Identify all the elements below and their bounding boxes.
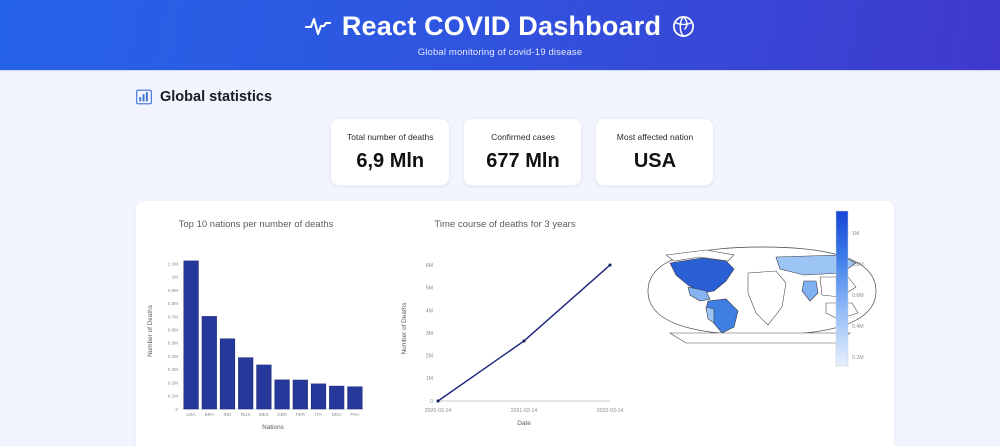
bar-per[interactable] [293,380,308,409]
globe-icon [672,15,695,38]
svg-text:ITA: ITA [315,412,323,417]
svg-text:GBR: GBR [277,412,288,417]
svg-text:4M: 4M [426,308,433,314]
svg-text:0.2M: 0.2M [168,380,178,385]
bar-ita[interactable] [311,384,326,409]
svg-text:0.7M: 0.7M [168,314,178,319]
stat-card-label: Confirmed cases [491,132,555,142]
svg-text:RUS: RUS [241,412,251,417]
line-chart[interactable]: Time course of deaths for 3 years 01M2M3… [380,201,630,446]
svg-text:1.1M: 1.1M [168,261,178,266]
header-title-row: React COVID Dashboard [305,13,695,40]
bar-bra[interactable] [202,316,217,409]
world-map-chart[interactable]: 0.2M0.4M0.6M0.8M1M [630,201,894,446]
svg-text:0.8M: 0.8M [168,301,178,306]
svg-text:0.5M: 0.5M [168,341,178,346]
svg-text:3M: 3M [426,331,433,337]
svg-text:2022-03-14: 2022-03-14 [597,408,624,414]
stat-cards: Total number of deaths 6,9 Mln Confirmed… [330,118,1000,186]
bar-ind[interactable] [220,339,235,409]
charts-panel: Top 10 nations per number of deaths 00.1… [136,201,894,446]
stat-card-value: USA [634,150,676,173]
stat-card-value: 677 Mln [486,150,559,173]
svg-text:Number of Deaths: Number of Deaths [147,305,154,357]
svg-text:BRA: BRA [205,412,215,417]
stat-card-total-deaths: Total number of deaths 6,9 Mln [330,118,450,186]
svg-text:Number of Deaths: Number of Deaths [401,303,408,355]
stat-card-confirmed-cases: Confirmed cases 677 Mln [463,118,582,186]
line-point-2[interactable] [609,264,612,267]
svg-text:0.8M: 0.8M [852,262,864,268]
bar-usa[interactable] [184,261,199,409]
svg-text:0: 0 [175,407,178,412]
svg-text:FRA: FRA [350,412,360,417]
svg-text:0.1M: 0.1M [168,394,178,399]
svg-text:0.6M: 0.6M [168,327,178,332]
bar-chart-title: Top 10 nations per number of deaths [136,219,376,230]
svg-text:6M: 6M [426,263,433,269]
bar-fra[interactable] [348,387,363,409]
bar-deu[interactable] [329,386,344,409]
page-title: React COVID Dashboard [342,13,661,40]
stat-card-most-affected-nation: Most affected nation USA [595,118,714,186]
svg-text:2M: 2M [426,354,433,360]
svg-text:1M: 1M [852,231,859,237]
svg-text:1M: 1M [172,275,179,280]
svg-text:2020-03-14: 2020-03-14 [425,408,452,414]
map-colorbar-ticks: 0.2M0.4M0.6M0.8M1M [852,231,864,361]
bar-chart-svg[interactable]: 00.1M0.2M0.3M0.4M0.5M0.6M0.7M0.8M0.9M1M1… [136,201,376,446]
line-point-1[interactable] [523,340,526,343]
svg-text:0.9M: 0.9M [168,288,178,293]
svg-text:Nations: Nations [262,424,284,431]
bar-mex[interactable] [257,365,272,409]
bar-gbr[interactable] [275,380,290,409]
svg-text:2021-03-14: 2021-03-14 [511,408,538,414]
svg-text:PER: PER [296,412,306,417]
world-map-svg[interactable]: 0.2M0.4M0.6M0.8M1M [630,201,894,446]
svg-text:0: 0 [430,399,433,405]
svg-text:0.6M: 0.6M [852,293,864,299]
deaths-trend-line[interactable] [438,265,610,401]
line-point-0[interactable] [437,400,440,403]
stat-card-label: Total number of deaths [347,132,433,142]
svg-text:0.3M: 0.3M [168,367,178,372]
global-statistics-heading: Global statistics [136,89,1000,105]
section-title: Global statistics [160,89,272,105]
line-chart-svg[interactable]: 01M2M3M4M5M6M2020-03-142021-03-142022-03… [380,201,630,446]
svg-text:USA: USA [186,412,196,417]
bar-rus[interactable] [238,358,253,409]
svg-text:MEX: MEX [259,412,269,417]
stat-card-label: Most affected nation [617,132,693,142]
svg-text:0.4M: 0.4M [852,324,864,330]
line-chart-title: Time course of deaths for 3 years [380,219,630,230]
stat-card-value: 6,9 Mln [356,150,424,173]
bar-chart[interactable]: Top 10 nations per number of deaths 00.1… [136,201,376,446]
pulse-icon [305,15,331,37]
map-colorbar [836,211,848,366]
svg-text:1M: 1M [426,376,433,382]
svg-text:Date: Date [517,420,531,427]
bar-chart-icon [136,89,152,105]
page-subtitle: Global monitoring of covid-19 disease [418,47,583,58]
svg-text:5M: 5M [426,286,433,292]
svg-text:0.4M: 0.4M [168,354,178,359]
app-header: React COVID Dashboard Global monitoring … [0,0,1000,71]
svg-text:IND: IND [224,412,233,417]
svg-text:DEU: DEU [332,412,342,417]
svg-text:0.2M: 0.2M [852,355,864,361]
